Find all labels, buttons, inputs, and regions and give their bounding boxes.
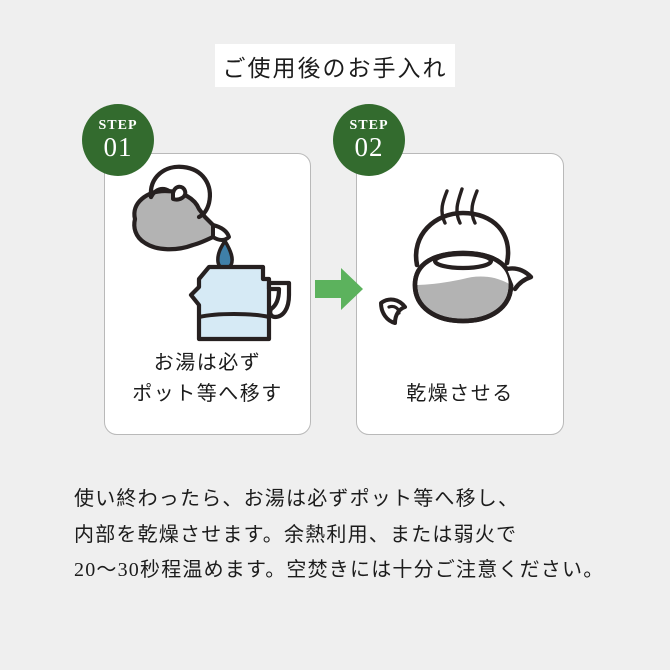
- kettle-pouring-into-pot-icon: [113, 159, 303, 349]
- step-01-caption-line-1: お湯は必ず: [105, 348, 310, 379]
- step-badge-01: STEP 01: [82, 104, 154, 176]
- body-line-3: 20〜30秒程温めます。空焚きには十分ご注意ください。: [74, 553, 614, 589]
- step-badge-02: STEP 02: [333, 104, 405, 176]
- arrow-right-icon: [315, 268, 363, 310]
- step-02-caption-line-1: 乾燥させる: [357, 379, 563, 410]
- step-01-caption: お湯は必ず ポット等へ移す: [105, 348, 310, 410]
- page-title: ご使用後のお手入れ: [223, 49, 448, 83]
- body-line-2: 内部を乾燥させます。余熱利用、または弱火で: [74, 518, 614, 554]
- step-badge-02-number: 02: [355, 134, 384, 161]
- step-card-01: お湯は必ず ポット等へ移す: [104, 153, 311, 435]
- step-badge-02-word: STEP: [349, 119, 388, 133]
- step-01-caption-line-2: ポット等へ移す: [105, 379, 310, 410]
- step-badge-01-number: 01: [104, 134, 133, 161]
- kettle-steaming-over-flame-icon: [365, 159, 555, 349]
- step-02-caption: 乾燥させる: [357, 379, 563, 410]
- body-paragraph: 使い終わったら、お湯は必ずポット等へ移し、 内部を乾燥させます。余熱利用、または…: [74, 482, 614, 589]
- step-02-illustration: [357, 154, 563, 354]
- step-01-illustration: [105, 154, 310, 354]
- step-card-02: 乾燥させる: [356, 153, 564, 435]
- page-title-band: ご使用後のお手入れ: [215, 44, 455, 87]
- step-badge-01-word: STEP: [98, 119, 137, 133]
- body-line-1: 使い終わったら、お湯は必ずポット等へ移し、: [74, 482, 614, 518]
